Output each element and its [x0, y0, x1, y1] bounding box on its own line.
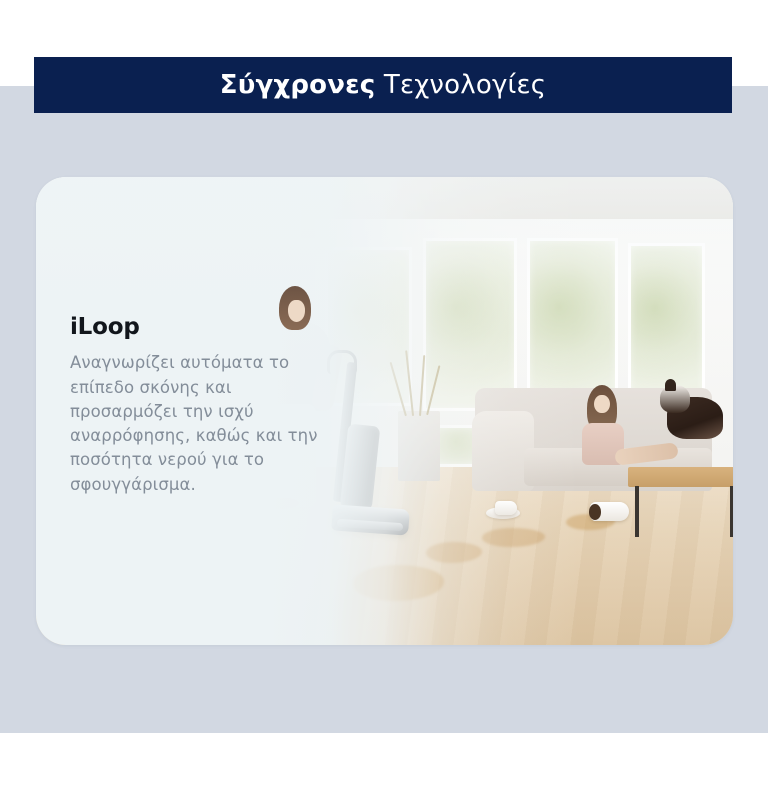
feature-description: Αναγνωρίζει αυτόματα το επίπεδο σκόνης κ… [70, 351, 320, 497]
photo-girl-face [594, 395, 609, 414]
feature-text-block: iLoop Αναγνωρίζει αυτόματα το επίπεδο σκ… [70, 315, 320, 497]
feature-card-iloop[interactable]: iLoop Αναγνωρίζει αυτόματα το επίπεδο σκ… [36, 177, 733, 645]
page-bottom-background [0, 733, 768, 808]
page-title-light: Τεχνολογίες [384, 70, 546, 100]
page-title: Σύγχρονες Τεχνολογίες [220, 72, 547, 98]
page-title-bold: Σύγχρονες [220, 70, 376, 100]
feature-heading: iLoop [70, 315, 320, 340]
section-header-banner: Σύγχρονες Τεχνολογίες [34, 57, 732, 113]
